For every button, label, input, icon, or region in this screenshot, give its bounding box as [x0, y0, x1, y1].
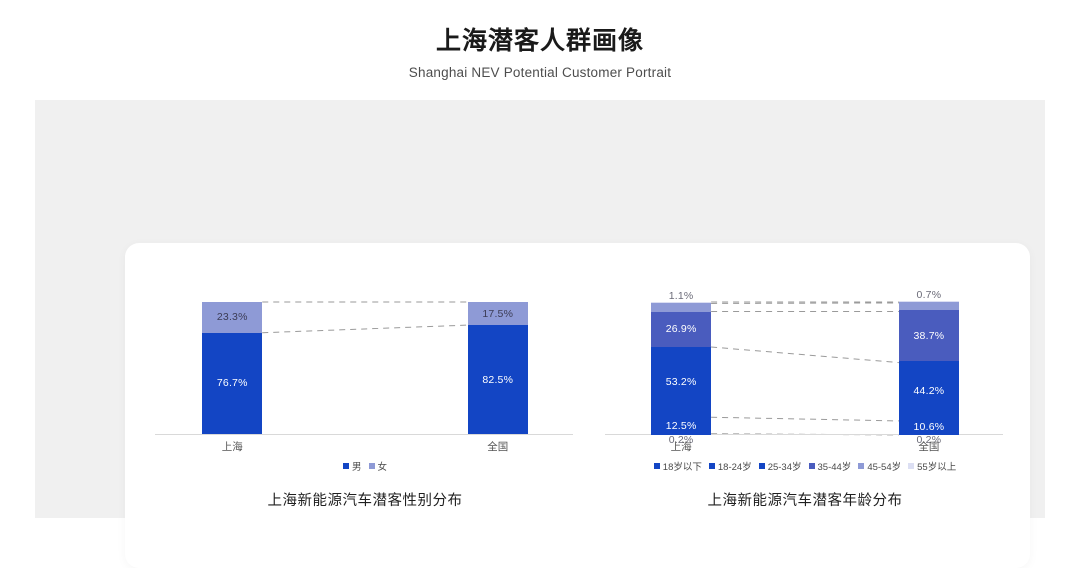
legend-swatch-icon	[654, 463, 660, 469]
content-panel: 23.3%76.7%17.5%82.5% 男女 上海新能源汽车潜客性别分布 上海…	[35, 100, 1045, 518]
legend-swatch-icon	[343, 463, 349, 469]
segment-value-label: 38.7%	[914, 330, 945, 342]
segment-gender-1-1: 82.5%	[468, 325, 528, 434]
segment-value-label: 44.2%	[914, 385, 945, 397]
legend-label: 35-44岁	[818, 459, 852, 473]
legend-item-age-1[interactable]: 18-24岁	[709, 459, 752, 473]
legend-label: 男	[352, 459, 362, 473]
age-chart-caption: 上海新能源汽车潜客年龄分布	[595, 489, 1015, 510]
segment-age-1-4: 10.6%	[899, 420, 959, 434]
segment-age-1-2: 38.7%	[899, 310, 959, 361]
segment-value-label: 82.5%	[482, 374, 513, 386]
legend-item-gender-1[interactable]: 女	[369, 459, 388, 473]
connector-line	[711, 347, 899, 363]
connector-line	[262, 325, 468, 333]
segment-age-0-4: 12.5%	[651, 417, 711, 434]
bar-age-1: 0.7%6.5%38.7%44.2%10.6%0.2%	[899, 301, 959, 434]
gender-legend: 男女	[140, 459, 590, 473]
page-header: 上海潜客人群画像 Shanghai NEV Potential Customer…	[0, 0, 1080, 80]
legend-swatch-icon	[759, 463, 765, 469]
legend-label: 18岁以下	[663, 459, 702, 473]
category-label-age-0: 上海	[636, 439, 726, 454]
segment-gender-0-0: 23.3%	[202, 302, 262, 333]
page-root: 上海潜客人群画像 Shanghai NEV Potential Customer…	[0, 0, 1080, 547]
connector-line	[711, 303, 899, 304]
legend-swatch-icon	[809, 463, 815, 469]
bar-age-0: 1.1%6.1%26.9%53.2%12.5%0.2%	[651, 302, 711, 434]
legend-item-age-4[interactable]: 45-54岁	[858, 459, 901, 473]
legend-swatch-icon	[908, 463, 914, 469]
age-chart: 1.1%6.1%26.9%53.2%12.5%0.2%0.7%6.5%38.7%…	[595, 243, 1015, 568]
age-axis-line	[605, 434, 1003, 435]
segment-value-label: 26.9%	[666, 323, 697, 335]
category-label-gender-0: 上海	[187, 439, 277, 454]
gender-plot-area: 23.3%76.7%17.5%82.5%	[140, 243, 590, 493]
legend-label: 25-34岁	[768, 459, 802, 473]
segment-value-label: 76.7%	[217, 377, 248, 389]
gender-chart-caption: 上海新能源汽车潜客性别分布	[140, 489, 590, 510]
segment-age-1-1: 6.5%	[899, 302, 959, 311]
connector-line	[711, 417, 899, 421]
segment-value-label: 53.2%	[666, 376, 697, 388]
charts-card: 23.3%76.7%17.5%82.5% 男女 上海新能源汽车潜客性别分布 上海…	[125, 243, 1030, 568]
page-subtitle: Shanghai NEV Potential Customer Portrait	[0, 65, 1080, 80]
segment-value-label: 12.5%	[666, 420, 697, 432]
legend-item-age-5[interactable]: 55岁以上	[908, 459, 956, 473]
bar-gender-1: 17.5%82.5%	[468, 302, 528, 434]
segment-age-0-1: 6.1%	[651, 303, 711, 311]
legend-item-age-3[interactable]: 35-44岁	[809, 459, 852, 473]
legend-item-gender-0[interactable]: 男	[343, 459, 362, 473]
segment-value-label: 10.6%	[914, 421, 945, 433]
age-plot-area: 1.1%6.1%26.9%53.2%12.5%0.2%0.7%6.5%38.7%…	[595, 243, 1015, 493]
gender-chart: 23.3%76.7%17.5%82.5% 男女 上海新能源汽车潜客性别分布 上海…	[140, 243, 590, 568]
category-label-gender-1: 全国	[453, 439, 543, 454]
segment-age-0-3: 53.2%	[651, 347, 711, 417]
page-title: 上海潜客人群画像	[0, 26, 1080, 56]
legend-swatch-icon	[709, 463, 715, 469]
gender-axis-line	[155, 434, 573, 435]
legend-label: 18-24岁	[718, 459, 752, 473]
segment-value-label: 23.3%	[217, 311, 248, 323]
segment-gender-1-0: 17.5%	[468, 302, 528, 325]
legend-label: 45-54岁	[867, 459, 901, 473]
bar-gender-0: 23.3%76.7%	[202, 302, 262, 434]
segment-age-0-2: 26.9%	[651, 312, 711, 348]
legend-swatch-icon	[858, 463, 864, 469]
segment-age-1-3: 44.2%	[899, 361, 959, 419]
legend-label: 女	[378, 459, 388, 473]
segment-gender-0-1: 76.7%	[202, 333, 262, 434]
legend-swatch-icon	[369, 463, 375, 469]
legend-item-age-2[interactable]: 25-34岁	[759, 459, 802, 473]
category-label-age-1: 全国	[884, 439, 974, 454]
age-legend: 18岁以下18-24岁25-34岁35-44岁45-54岁55岁以上	[595, 459, 1015, 473]
legend-label: 55岁以上	[917, 459, 956, 473]
segment-value-label: 17.5%	[482, 308, 513, 320]
legend-item-age-0[interactable]: 18岁以下	[654, 459, 702, 473]
